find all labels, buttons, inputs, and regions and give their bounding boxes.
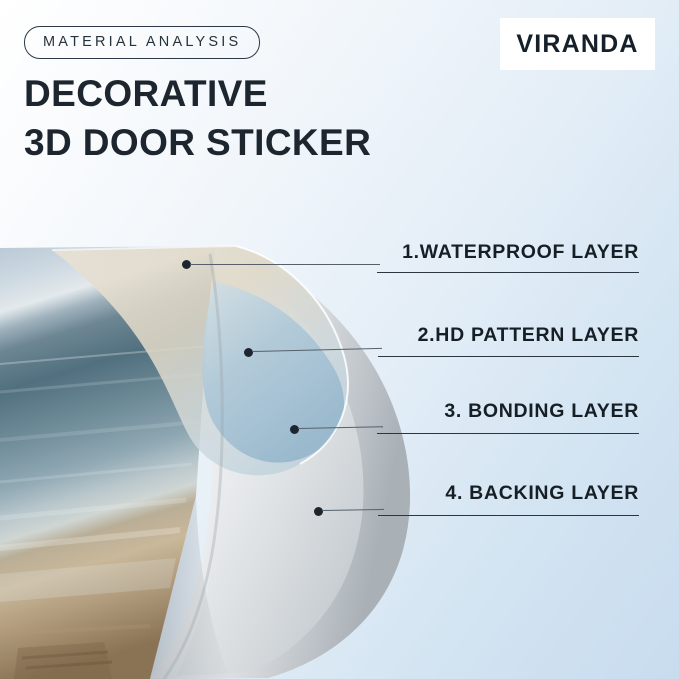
callout-dot-3 [290, 425, 299, 434]
callout-label-1: 1.WATERPROOF LAYER [402, 241, 639, 269]
callout-dot-2 [244, 348, 253, 357]
page-title: DECORATIVE 3D DOOR STICKER [24, 70, 371, 168]
brand-logo-box: VIRANDA [500, 18, 655, 70]
poster-canvas: MATERIAL ANALYSIS DECORATIVE 3D DOOR STI… [0, 0, 679, 679]
brand-name: VIRANDA [516, 30, 638, 59]
callout-dot-4 [314, 507, 323, 516]
callout-label-4: 4. BACKING LAYER [445, 482, 639, 510]
callout-rule-4 [378, 515, 639, 516]
page-title-line-1: DECORATIVE [24, 70, 371, 119]
page-title-line-2: 3D DOOR STICKER [24, 119, 371, 168]
callout-rule-2 [378, 356, 639, 357]
callout-label-3: 3. BONDING LAYER [444, 400, 639, 428]
callout-rule-1 [377, 272, 639, 273]
callout-rule-3 [377, 433, 639, 434]
callout-label-2: 2.HD PATTERN LAYER [418, 324, 639, 352]
eyebrow-badge: MATERIAL ANALYSIS [24, 26, 260, 59]
callout-leader-1 [190, 264, 380, 265]
